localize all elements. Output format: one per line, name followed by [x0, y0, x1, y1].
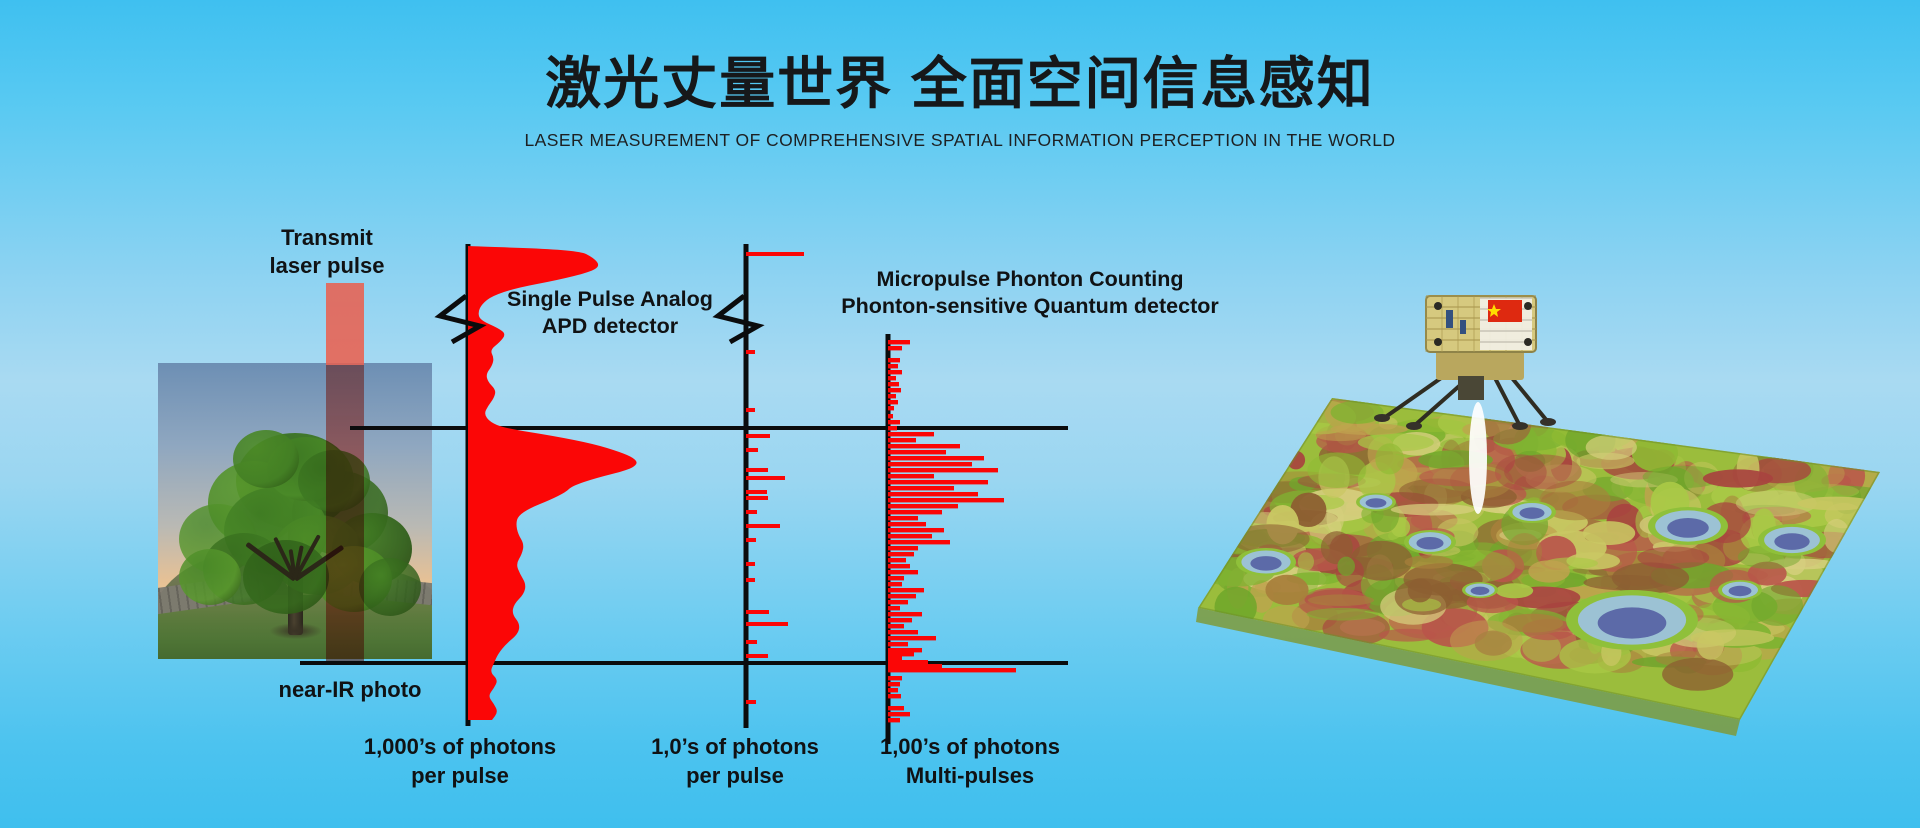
terrain-patch — [1798, 497, 1875, 511]
photon-return-bar — [888, 432, 934, 436]
lunar-lander-terrain-scene — [1180, 290, 1920, 810]
photon-return-bar — [888, 426, 897, 430]
lander-leg — [1512, 378, 1548, 422]
photon-return-bar — [888, 630, 918, 634]
crater — [1718, 580, 1762, 600]
crater — [1508, 501, 1556, 523]
photon-return-bar — [888, 546, 918, 550]
photon-return-bar — [888, 414, 893, 418]
crater-floor — [1774, 533, 1809, 550]
photon-return-bar — [746, 448, 758, 452]
crater — [1404, 530, 1456, 554]
crater — [1648, 507, 1728, 545]
photon-return-bar — [888, 688, 898, 692]
terrain-patch — [1298, 552, 1314, 571]
photon-return-bar — [746, 562, 755, 566]
label-single-pulse-analog-apd-detector: Single Pulse Analog APD detector — [455, 286, 765, 340]
photon-return-bar — [888, 346, 902, 350]
photon-return-bar — [746, 524, 780, 528]
label-transmit-laser-pulse: Transmit laser pulse — [232, 224, 422, 279]
photon-return-bar — [888, 462, 972, 466]
terrain-patch — [1662, 658, 1733, 691]
photon-return-bar — [746, 640, 757, 644]
canopy-foliage-blob — [233, 430, 299, 488]
laser-beam-upper — [326, 283, 364, 365]
crater — [1236, 548, 1296, 576]
photon-return-bar — [888, 594, 916, 598]
terrain-patch — [1504, 454, 1582, 489]
photon-return-bar — [888, 534, 932, 538]
crater-floor — [1729, 586, 1752, 596]
crater-floor — [1667, 518, 1709, 538]
photon-return-bar — [746, 252, 804, 256]
terrain-patch — [1307, 608, 1379, 621]
photon-return-bar — [888, 510, 942, 514]
photon-return-bar — [746, 622, 788, 626]
photon-return-bar — [746, 490, 767, 494]
photon-return-bar — [888, 606, 900, 610]
photon-return-bar — [888, 376, 896, 380]
near-ir-tree-photo — [158, 363, 432, 659]
photon-return-bar — [888, 564, 910, 568]
photon-return-bar — [888, 382, 899, 386]
photon-return-bar — [888, 706, 904, 710]
photon-return-bar — [888, 660, 928, 664]
photon-return-bar — [888, 438, 916, 442]
photon-return-bar — [746, 538, 756, 542]
crater-floor — [1471, 587, 1490, 595]
lander-thruster — [1524, 338, 1532, 346]
infographic-canvas: 激光丈量世界 全面空间信息感知 LASER MEASUREMENT OF COM… — [0, 0, 1920, 828]
photon-return-bar — [888, 612, 922, 616]
terrain-patch — [1337, 557, 1355, 576]
terrain-patch — [1697, 631, 1724, 660]
photon-return-bar — [888, 450, 946, 454]
photon-return-bar — [888, 648, 922, 652]
photon-return-bar — [888, 406, 894, 410]
photon-return-bar — [888, 540, 950, 544]
terrain-patch — [1450, 620, 1523, 661]
terrain-patch — [1265, 575, 1308, 605]
photon-return-bar — [888, 668, 1016, 672]
photon-return-bar — [888, 718, 900, 722]
photon-return-bar — [746, 434, 770, 438]
photon-return-bar — [888, 480, 988, 484]
photon-return-bar — [888, 558, 906, 562]
terrain-patch — [1330, 424, 1408, 435]
photon-return-bar — [888, 652, 914, 656]
descent-engine-plume — [1469, 402, 1487, 514]
lander-engine-nozzle — [1458, 376, 1484, 400]
crater-floor — [1520, 507, 1545, 518]
photon-return-bar — [746, 476, 785, 480]
crater — [1462, 582, 1498, 598]
crater — [1758, 524, 1826, 556]
photon-return-bar — [888, 570, 918, 574]
lander-footpad — [1406, 422, 1422, 430]
photon-return-bar — [888, 582, 902, 586]
photon-return-bar — [888, 676, 902, 680]
crater — [1566, 590, 1698, 650]
terrain-patch — [1703, 469, 1773, 487]
page-subtitle: LASER MEASUREMENT OF COMPREHENSIVE SPATI… — [0, 130, 1920, 151]
photon-return-bar — [888, 522, 926, 526]
photon-return-bar — [746, 350, 755, 354]
photon-return-bar — [888, 588, 924, 592]
label-near-ir-photo: near-IR photo — [240, 676, 460, 704]
terrain-patch — [1391, 504, 1475, 516]
photon-return-bar — [888, 498, 1004, 502]
photon-return-bar — [888, 600, 908, 604]
lander-instrument — [1446, 310, 1453, 328]
photon-return-bar — [746, 408, 755, 412]
photon-return-bar — [746, 700, 756, 704]
crater-floor — [1366, 498, 1387, 507]
terrain-patch — [1637, 547, 1709, 569]
photon-return-bar — [888, 618, 912, 622]
lander-thruster — [1434, 302, 1442, 310]
photon-return-bar — [888, 664, 942, 668]
photon-return-bar — [888, 624, 904, 628]
photon-return-bar — [888, 492, 978, 496]
photon-return-bar — [888, 486, 954, 490]
lander-instrument — [1460, 320, 1466, 334]
canopy-foliage-blob — [179, 549, 241, 605]
photon-return-bar — [888, 340, 910, 344]
lander-thruster — [1434, 338, 1442, 346]
photon-return-bar — [888, 358, 900, 362]
terrain-patch — [1528, 560, 1570, 582]
lander-footpad — [1374, 414, 1390, 422]
terrain-patch — [1308, 452, 1367, 488]
photon-return-bar — [888, 370, 902, 374]
photon-return-bar — [888, 388, 901, 392]
photon-return-bar — [888, 364, 898, 368]
terrain-group — [1196, 394, 1887, 737]
footer-photons-per-pulse-high: 1,000’s of photons per pulse — [330, 733, 590, 790]
photon-return-bar — [746, 578, 755, 582]
footer-photons-per-pulse-low: 1,0’s of photons per pulse — [620, 733, 850, 790]
photon-return-bar — [888, 642, 908, 646]
crater-floor — [1598, 607, 1667, 638]
photon-return-bar — [888, 636, 936, 640]
photon-return-bar — [746, 510, 757, 514]
canopy-foliage-blob — [359, 558, 421, 616]
photon-return-bar — [888, 576, 904, 580]
photon-return-bar — [888, 444, 960, 448]
photon-return-bar — [888, 552, 914, 556]
crater — [1356, 493, 1396, 511]
photon-return-bar — [888, 400, 898, 404]
photon-return-bar — [746, 654, 768, 658]
crater-floor — [1416, 537, 1443, 549]
terrain-patch — [1419, 467, 1501, 486]
terrain-patch — [1375, 443, 1404, 474]
photon-return-bar — [888, 456, 984, 460]
lander-footpad — [1512, 422, 1528, 430]
terrain-patch — [1405, 555, 1453, 568]
photon-return-bar — [888, 694, 901, 698]
photon-return-bar — [888, 516, 918, 520]
photon-return-bar — [746, 610, 769, 614]
photon-return-bar — [888, 712, 910, 716]
header: 激光丈量世界 全面空间信息感知 LASER MEASUREMENT OF COM… — [0, 0, 1920, 151]
photon-return-bar — [888, 504, 958, 508]
terrain-patch — [1496, 583, 1533, 598]
lander-footpad — [1540, 418, 1556, 426]
terrain-patch — [1379, 629, 1436, 642]
photon-return-bar — [746, 468, 768, 472]
photon-return-bar — [888, 682, 900, 686]
terrain-patch — [1308, 594, 1374, 606]
photon-return-bar — [888, 474, 934, 478]
photon-return-bar — [888, 468, 998, 472]
photon-return-bar — [888, 420, 900, 424]
terrain-patch — [1583, 521, 1635, 545]
page-title: 激光丈量世界 全面空间信息感知 — [0, 55, 1920, 114]
lander-thruster — [1524, 302, 1532, 310]
photon-return-bar — [888, 528, 944, 532]
footer-photons-multi-pulses: 1,00’s of photons Multi-pulses — [850, 733, 1090, 790]
photon-return-bar — [888, 656, 902, 660]
crater-floor — [1250, 556, 1281, 571]
photon-return-bar — [746, 496, 768, 500]
photon-return-bar — [888, 394, 896, 398]
